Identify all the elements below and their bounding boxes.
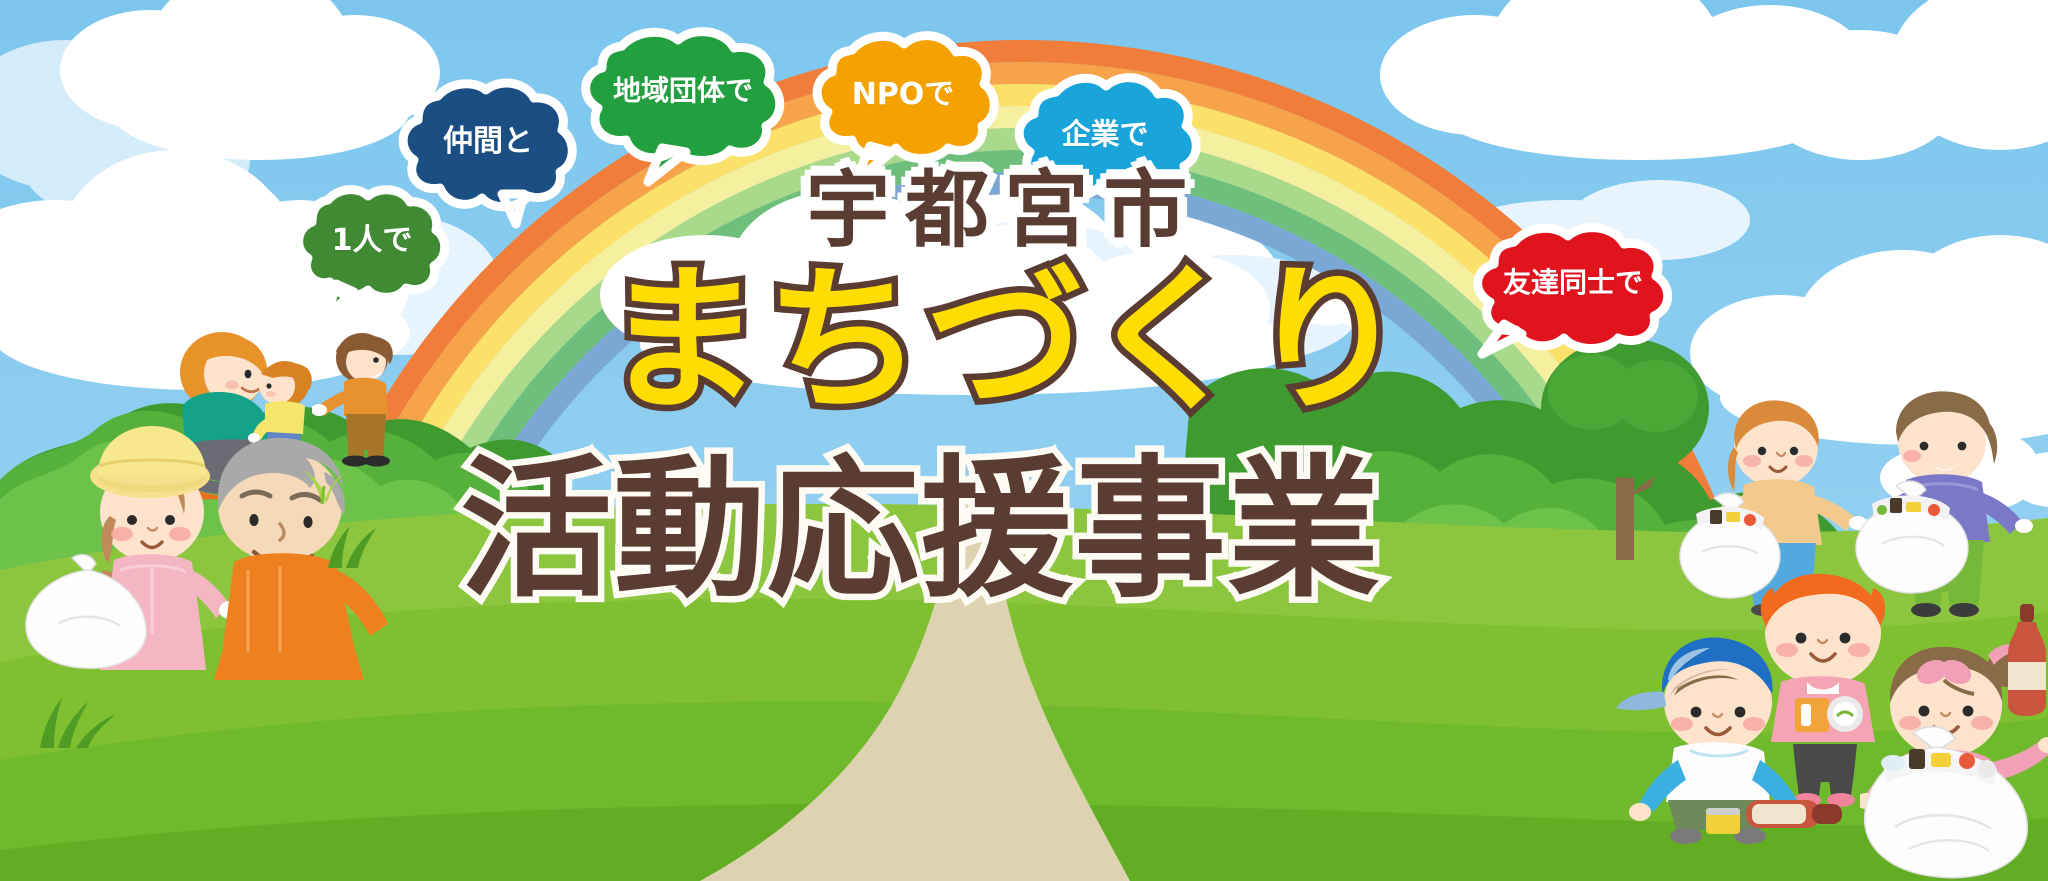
speech-bubble-community-label: 地域団体で xyxy=(578,32,788,146)
tree-right xyxy=(1530,330,1720,560)
grass-tuft-left xyxy=(30,690,150,750)
title-sub: 活動応援事業 xyxy=(460,448,1381,612)
speech-bubble-buddies[interactable]: 友達同士で xyxy=(1470,228,1676,354)
speech-bubble-friends[interactable]: 仲間と xyxy=(398,82,578,212)
litter-bottle-and-can xyxy=(1700,778,1880,848)
speech-bubble-buddies-label: 友達同士で xyxy=(1470,228,1676,334)
title-main: まちづくり xyxy=(604,256,1410,427)
banner-image: 1人で 仲間と 地域団体で NPOで 企業で 友達同士で 宇都宮市 xyxy=(0,0,2048,881)
speech-bubble-community[interactable]: 地域団体で xyxy=(578,32,788,164)
small-plant xyxy=(288,466,358,506)
speech-bubble-company-label: 企業で xyxy=(1016,78,1194,186)
speech-bubble-alone[interactable]: 1人で xyxy=(292,188,452,306)
speech-bubble-npo-label: NPOで xyxy=(812,36,994,146)
speech-bubble-npo[interactable]: NPOで xyxy=(812,36,994,166)
flower-right xyxy=(1910,650,1980,700)
speech-bubble-alone-label: 1人で xyxy=(292,188,452,286)
trash-bag-bottom-left xyxy=(18,552,158,672)
speech-bubble-friends-label: 仲間と xyxy=(398,82,578,194)
grass-tuft-center xyxy=(320,520,430,570)
held-bottle xyxy=(2000,600,2048,720)
trash-bag-bottom-right xyxy=(1855,725,2045,881)
